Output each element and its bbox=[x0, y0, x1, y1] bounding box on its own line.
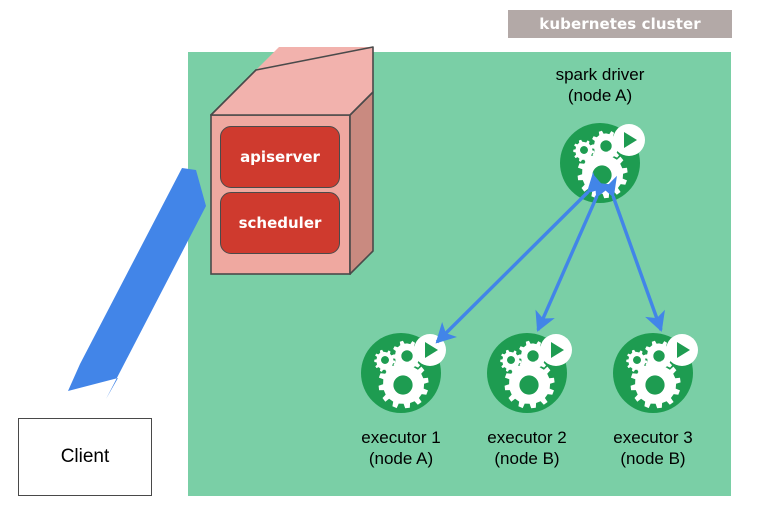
apiserver-component[interactable]: apiserver bbox=[220, 126, 340, 188]
control-plane-components: apiserver scheduler bbox=[195, 58, 375, 283]
spark-submit-arrow bbox=[68, 168, 206, 399]
spark-driver-title: spark driver bbox=[512, 64, 688, 85]
executor-3-label: executor 3 (node B) bbox=[592, 427, 714, 469]
spark-driver-label: spark driver (node A) bbox=[512, 64, 688, 106]
spark-driver-subtitle: (node A) bbox=[512, 85, 688, 106]
link-driver-executor-2 bbox=[538, 196, 597, 330]
executor-node-2[interactable] bbox=[487, 333, 572, 413]
executor-1-label: executor 1 (node A) bbox=[340, 427, 462, 469]
scheduler-label: scheduler bbox=[239, 214, 322, 232]
scheduler-component[interactable]: scheduler bbox=[220, 192, 340, 254]
executor-node-3[interactable] bbox=[613, 333, 698, 413]
spark-driver-node[interactable] bbox=[560, 123, 645, 203]
client-box[interactable]: Client bbox=[18, 418, 152, 496]
executor-3-title: executor 3 bbox=[592, 427, 714, 448]
play-icon bbox=[540, 334, 572, 366]
executor-1-subtitle: (node A) bbox=[340, 448, 462, 469]
executor-node-1[interactable] bbox=[361, 333, 446, 413]
driver-executor-links bbox=[437, 192, 661, 342]
apiserver-label: apiserver bbox=[240, 148, 320, 166]
executor-1-title: executor 1 bbox=[340, 427, 462, 448]
play-icon bbox=[666, 334, 698, 366]
executor-2-title: executor 2 bbox=[466, 427, 588, 448]
executor-2-subtitle: (node B) bbox=[466, 448, 588, 469]
client-label: Client bbox=[61, 446, 110, 468]
link-driver-executor-3 bbox=[613, 196, 661, 330]
executor-3-subtitle: (node B) bbox=[592, 448, 714, 469]
executor-2-label: executor 2 (node B) bbox=[466, 427, 588, 469]
play-icon bbox=[613, 124, 645, 156]
